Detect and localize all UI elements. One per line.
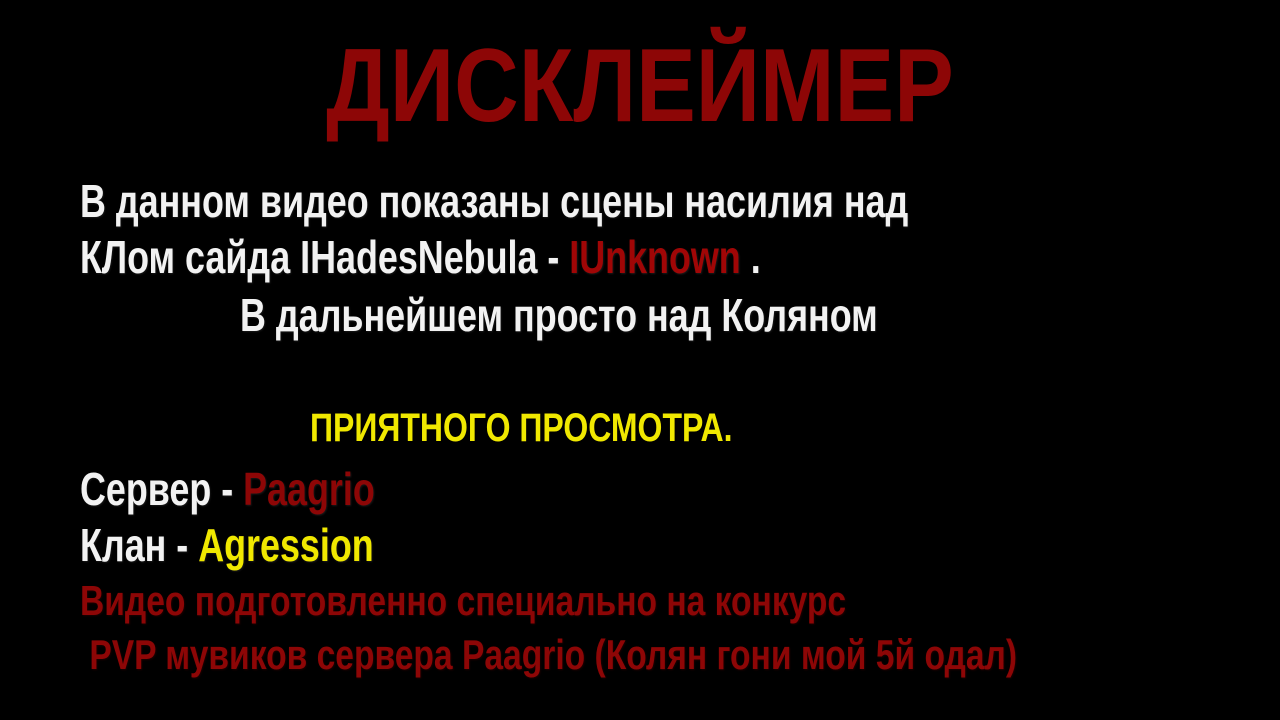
disclaimer-line-2-prefix: КЛом сайда IHadesNebula - — [80, 231, 569, 283]
disclaimer-line-1: В данном видео показаны сцены насилия на… — [80, 178, 908, 224]
enjoy-watching-text: ПРИЯТНОГО ПРОСМОТРА. — [310, 408, 733, 448]
target-nickname: IUnknown — [569, 231, 740, 283]
server-value: Paagrio — [243, 463, 375, 515]
clan-value: Agression — [198, 519, 373, 571]
footer-line-1: Видео подготовленно специально на конкур… — [80, 580, 846, 622]
footer-line-2: PVP мувиков сервера Paagrio (Колян гони … — [80, 634, 1017, 676]
disclaimer-line-2-suffix: . — [741, 231, 761, 283]
page-title: ДИСКЛЕЙМЕР — [90, 34, 1191, 138]
server-label: Сервер - — [80, 463, 243, 515]
disclaimer-line-2: КЛом сайда IHadesNebula - IUnknown . — [80, 234, 761, 280]
disclaimer-screen: ДИСКЛЕЙМЕР В данном видео показаны сцены… — [0, 0, 1280, 720]
clan-row: Клан - Agression — [80, 522, 374, 568]
clan-label: Клан - — [80, 519, 198, 571]
server-row: Сервер - Paagrio — [80, 466, 375, 512]
disclaimer-line-3: В дальнейшем просто над Коляном — [240, 292, 878, 338]
